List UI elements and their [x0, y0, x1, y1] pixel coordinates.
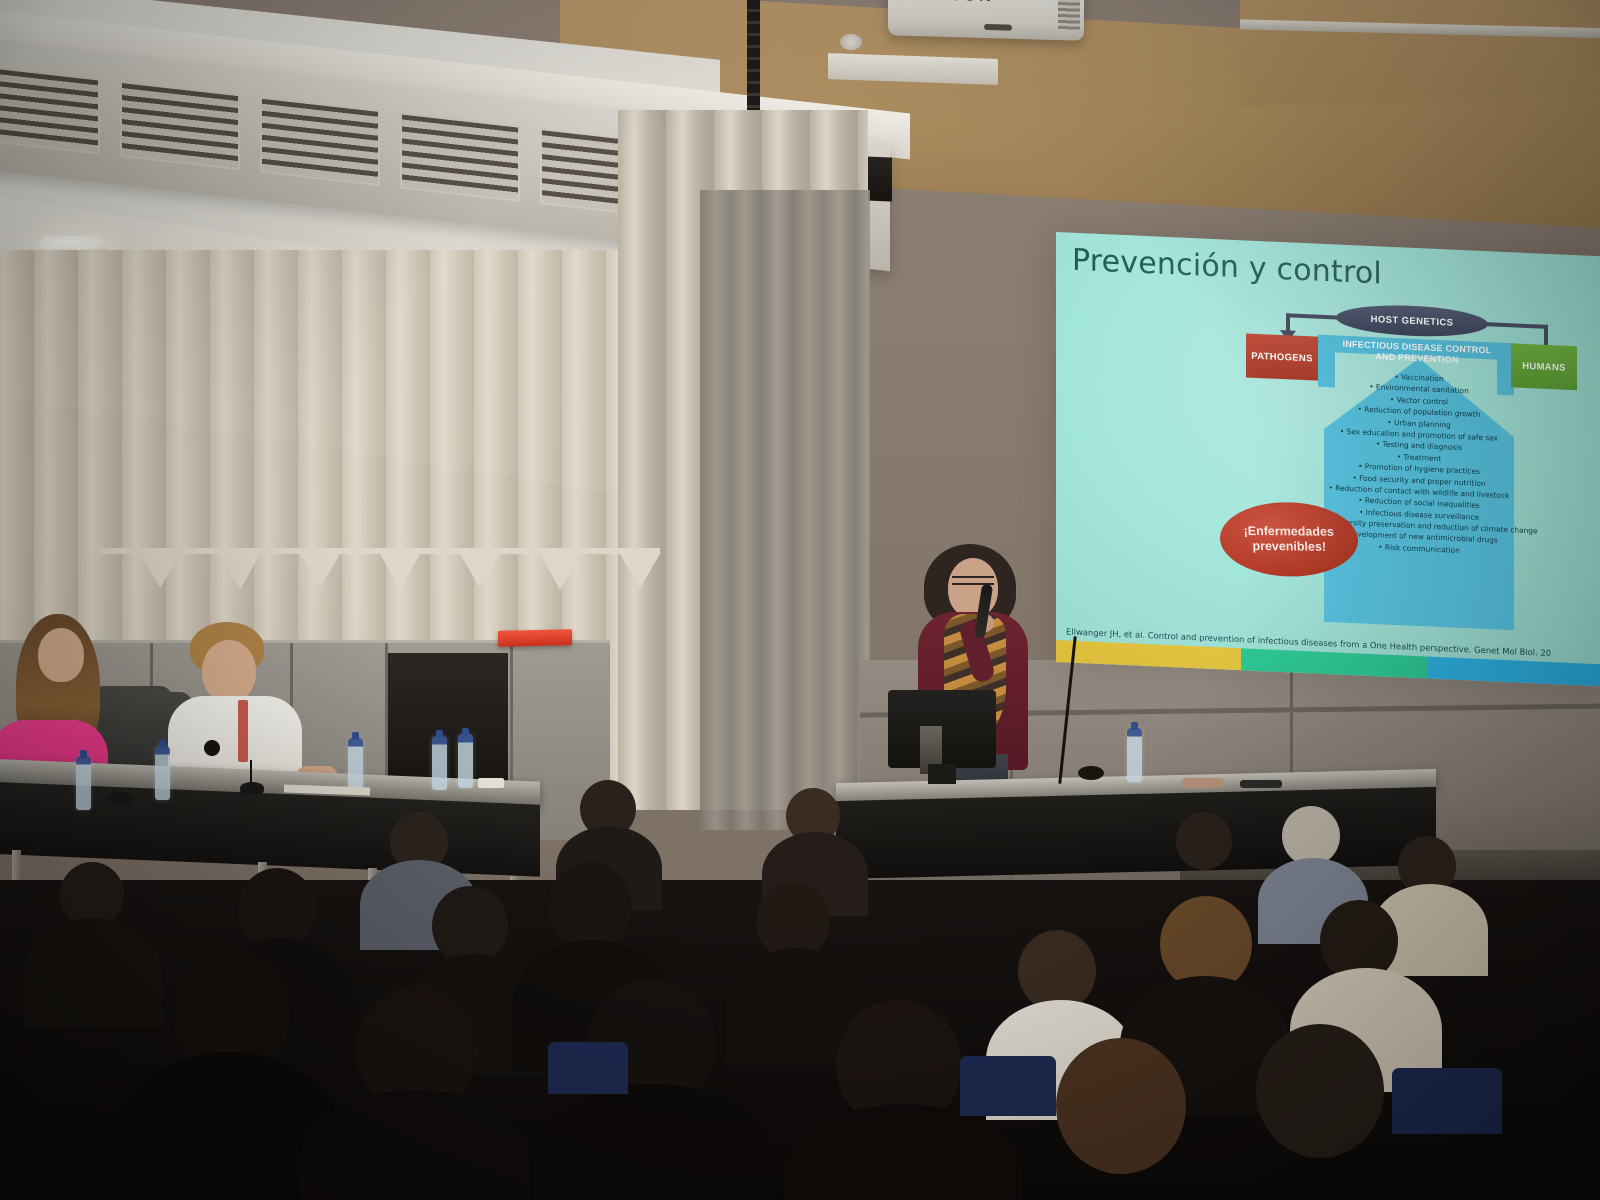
desk-items: [1182, 778, 1224, 788]
mic-gooseneck: [250, 760, 252, 784]
callout-line-1: ¡Enfermedades: [1243, 524, 1334, 540]
water-bottle: [348, 738, 363, 792]
desk-microphone: [240, 782, 264, 794]
presentation-slide: Prevención y control HOST GENETICS PATHO…: [1056, 232, 1600, 687]
wooden-ceiling-panel-right: [1240, 0, 1600, 107]
panelist-tie: [238, 700, 248, 762]
projector-vent-icon: [1058, 0, 1080, 31]
window-curtain-dark: [700, 190, 870, 830]
projector-brand-label: EPSON: [922, 0, 994, 6]
lapel-mic-icon: [204, 740, 220, 756]
auditorium-seat: [1392, 1068, 1502, 1134]
ceiling-projector: EPSON: [888, 0, 1084, 41]
water-bottle: [76, 756, 91, 810]
vent-grille-icon: [0, 65, 100, 154]
audience-member: [1282, 806, 1340, 866]
slide-title: Prevención y control: [1072, 243, 1382, 292]
pathogens-node: PATHOGENS: [1246, 333, 1318, 380]
water-bottle: [458, 734, 473, 788]
host-genetics-node: HOST GENETICS: [1336, 302, 1488, 339]
ceiling-speaker-icon: [840, 34, 862, 50]
panelist-head: [202, 640, 256, 702]
audience-member: [1256, 1024, 1384, 1158]
mic-stand-base: [1078, 766, 1104, 780]
presenter-monitor: [888, 690, 996, 768]
panelist-pink-head: [38, 628, 84, 682]
vent-grille-icon: [400, 112, 520, 201]
water-bottle: [1127, 728, 1142, 782]
curtain-pelmet: [100, 548, 660, 598]
projection-screen: Prevención y control HOST GENETICS PATHO…: [1056, 232, 1600, 687]
audience-member: [24, 918, 162, 1028]
vent-grille-icon: [120, 81, 240, 170]
monitor-stand: [928, 764, 956, 784]
audience-member: [1176, 812, 1232, 870]
water-bottle: [432, 736, 447, 790]
papers-on-table: [478, 778, 504, 788]
podium-desk-front: [836, 787, 1436, 879]
connector-drop-right: [1544, 325, 1548, 347]
auditorium-seat: [960, 1056, 1056, 1116]
one-health-diagram: HOST GENETICS PATHOGENS HUMANS INFECTIOU…: [1206, 297, 1600, 635]
remote-control: [1240, 780, 1282, 788]
desk-microphone: [108, 792, 132, 804]
water-bottle: [155, 746, 170, 800]
callout-line-2: prevenibles!: [1244, 539, 1335, 555]
vent-grille-icon: [260, 97, 380, 186]
audience-member: [548, 862, 632, 952]
audience-member: [1056, 1038, 1186, 1174]
auditorium-seat: [548, 1042, 628, 1094]
projector-foot: [984, 24, 1012, 31]
conference-hall-scene: EPSON Prevención y control: [0, 0, 1600, 1200]
red-tray: [498, 629, 572, 647]
